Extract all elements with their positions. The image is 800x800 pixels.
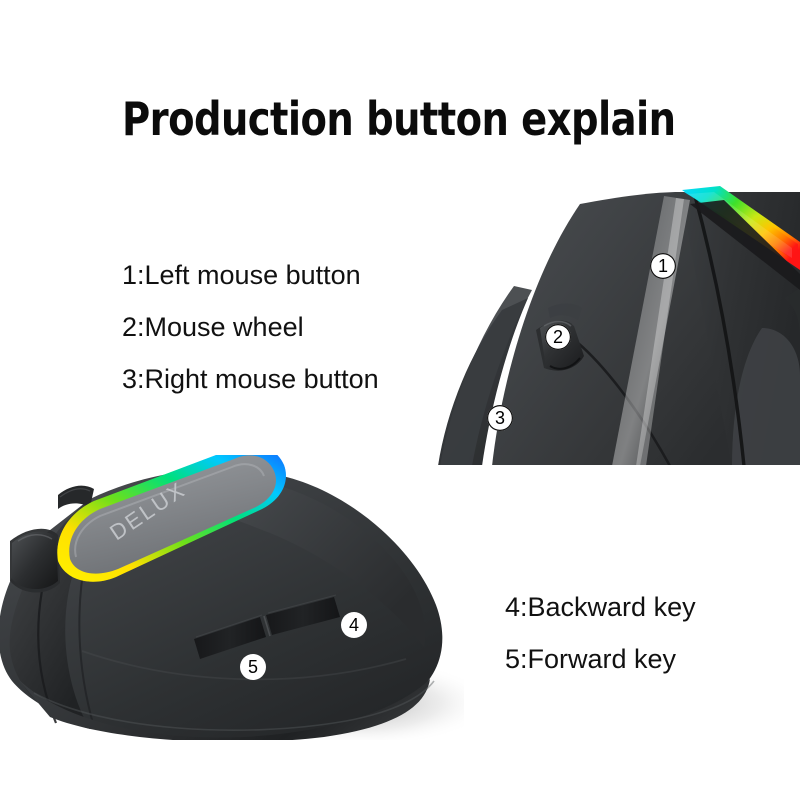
callout-badge-5: 5 — [240, 654, 266, 680]
legend-item-5: 5:Forward key — [505, 633, 696, 685]
legend-item-4: 4:Backward key — [505, 581, 696, 633]
legend-top-list: 1:Left mouse button 2:Mouse wheel 3:Righ… — [122, 249, 379, 405]
legend-item-1: 1:Left mouse button — [122, 249, 379, 301]
infographic-page: Production button explain — [0, 0, 800, 800]
callout-badge-1: 1 — [650, 253, 676, 279]
callout-badge-4: 4 — [341, 612, 367, 638]
page-title: Production button explain — [122, 92, 675, 146]
legend-bottom-list: 4:Backward key 5:Forward key — [505, 581, 696, 685]
product-photo-side-view: DELUX — [0, 455, 464, 745]
legend-item-2: 2:Mouse wheel — [122, 301, 379, 353]
callout-badge-2: 2 — [545, 324, 571, 350]
callout-badge-3: 3 — [487, 405, 513, 431]
legend-item-3: 3:Right mouse button — [122, 353, 379, 405]
